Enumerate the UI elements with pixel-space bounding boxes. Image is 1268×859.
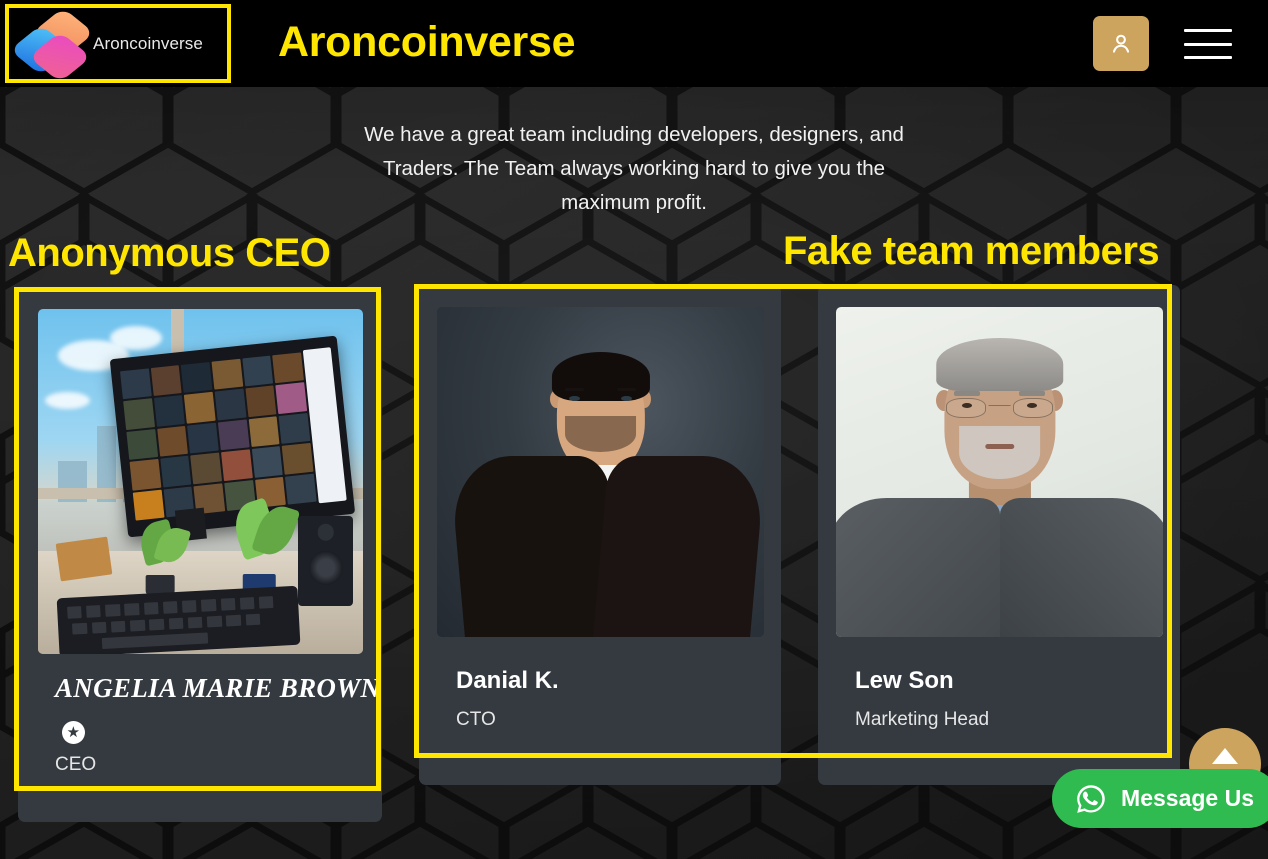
verified-star-icon: ★	[62, 721, 85, 744]
annotation-label-fake-team-members: Fake team members	[783, 229, 1159, 274]
member-photo-young-man	[437, 307, 764, 637]
member-role: CEO	[55, 754, 382, 776]
brand-logo-box[interactable]: Aroncoinverse	[5, 4, 231, 83]
member-info: ANGELIA MARIE BROWN★ CEO	[55, 670, 382, 776]
member-role: Marketing Head	[855, 709, 1180, 731]
whatsapp-message-us-button[interactable]: Message Us	[1052, 769, 1268, 828]
page-root: Aroncoinverse Aroncoinverse We have a gr…	[0, 0, 1268, 859]
member-name-text: ANGELIA MARIE BROWN	[55, 673, 380, 703]
team-member-card[interactable]: ANGELIA MARIE BROWN★ CEO	[18, 289, 382, 822]
whatsapp-icon	[1074, 782, 1108, 816]
team-cards-container: ANGELIA MARIE BROWN★ CEO	[0, 0, 1268, 859]
member-photo-older-man	[836, 307, 1163, 637]
member-photo-desk-monitor	[38, 309, 363, 654]
member-name: Danial K.	[456, 663, 781, 699]
brand-logo-text: Aroncoinverse	[93, 34, 203, 54]
team-member-card[interactable]: Lew Son Marketing Head	[818, 285, 1180, 785]
hamburger-menu-icon[interactable]	[1184, 26, 1232, 62]
aroncoinverse-prism-logo-icon	[21, 13, 87, 75]
annotation-label-anonymous-ceo: Anonymous CEO	[8, 231, 330, 276]
member-name: ANGELIA MARIE BROWN★	[55, 670, 382, 744]
whatsapp-button-label: Message Us	[1121, 785, 1254, 812]
member-info: Lew Son Marketing Head	[855, 663, 1180, 731]
chevron-up-icon	[1210, 746, 1240, 766]
top-navbar: Aroncoinverse Aroncoinverse	[0, 0, 1268, 87]
member-name: Lew Son	[855, 663, 1180, 699]
account-button[interactable]	[1093, 16, 1149, 71]
user-person-icon	[1108, 31, 1134, 57]
site-title: Aroncoinverse	[278, 18, 575, 67]
member-info: Danial K. CTO	[456, 663, 781, 731]
member-role: CTO	[456, 709, 781, 731]
team-member-card[interactable]: Danial K. CTO	[419, 285, 781, 785]
